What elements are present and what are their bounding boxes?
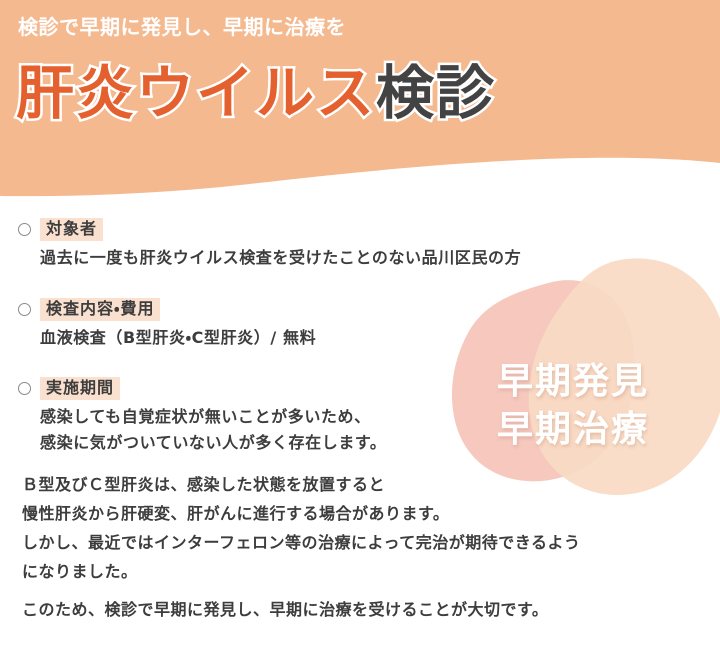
header-band: 検診で早期に発見し、早期に治療を 肝炎ウイルス検診 [0,0,720,210]
blob-overlay-text: 早期発見 早期治療 [497,358,649,453]
circle-bullet-icon [18,303,31,316]
section-body-line: 血液検査（B型肝炎・C型肝炎）/ 無料 [40,325,316,351]
page-title: 肝炎ウイルス検診 [16,57,496,130]
paragraph-line: 慢性肝炎から肝硬変、肝がんに進行する場合があります。 [22,499,580,528]
paragraph-closing-message: このため、検診で早期に発見し、早期に治療を受けることが大切です。 [22,595,548,624]
section-body-line: 過去に一度も肝炎ウイルス検査を受けたことのない品川区民の方 [40,245,521,271]
paragraph-line: このため、検診で早期に発見し、早期に治療を受けることが大切です。 [22,595,548,624]
page-title-dark: 検診 [376,59,496,127]
section-body-line: 感染に気がついていない人が多く存在します。 [40,430,387,456]
section-implementation-period: 実施期間 感染しても自覚症状が無いことが多いため、 感染に気がついていない人が多… [18,377,387,456]
section-label: 検査内容・費用 [40,298,160,321]
section-test-content-and-cost: 検査内容・費用 血液検査（B型肝炎・C型肝炎）/ 無料 [18,298,316,351]
paragraph-line: になりました。 [22,557,580,586]
section-body: 過去に一度も肝炎ウイルス検査を受けたことのない品川区民の方 [40,245,521,271]
section-heading: 実施期間 [18,377,387,400]
blob-overlay-line-1: 早期発見 [497,358,649,406]
paragraph-line: Ｂ型及びＣ型肝炎は、感染した状態を放置すると [22,470,580,499]
section-target-audience: 対象者 過去に一度も肝炎ウイルス検査を受けたことのない品川区民の方 [18,218,521,271]
section-label: 対象者 [40,218,103,241]
section-heading: 対象者 [18,218,521,241]
paragraph-line: しかし、最近ではインターフェロン等の治療によって完治が期待できるよう [22,528,580,557]
section-body-line: 感染しても自覚症状が無いことが多いため、 [40,404,387,430]
circle-bullet-icon [18,223,31,236]
section-heading: 検査内容・費用 [18,298,316,321]
paragraph-disease-progression: Ｂ型及びＣ型肝炎は、感染した状態を放置すると 慢性肝炎から肝硬変、肝がんに進行す… [22,470,580,586]
header-tagline: 検診で早期に発見し、早期に治療を [18,14,346,40]
circle-bullet-icon [18,382,31,395]
section-label: 実施期間 [40,377,120,400]
page-title-accent: 肝炎ウイルス [16,59,376,127]
section-body: 感染しても自覚症状が無いことが多いため、 感染に気がついていない人が多く存在しま… [40,404,387,456]
section-body: 血液検査（B型肝炎・C型肝炎）/ 無料 [40,325,316,351]
blob-overlay-line-2: 早期治療 [497,406,649,454]
hepatitis-screening-poster: 検診で早期に発見し、早期に治療を 肝炎ウイルス検診 早期発見 早期治療 対象者 … [0,0,720,649]
